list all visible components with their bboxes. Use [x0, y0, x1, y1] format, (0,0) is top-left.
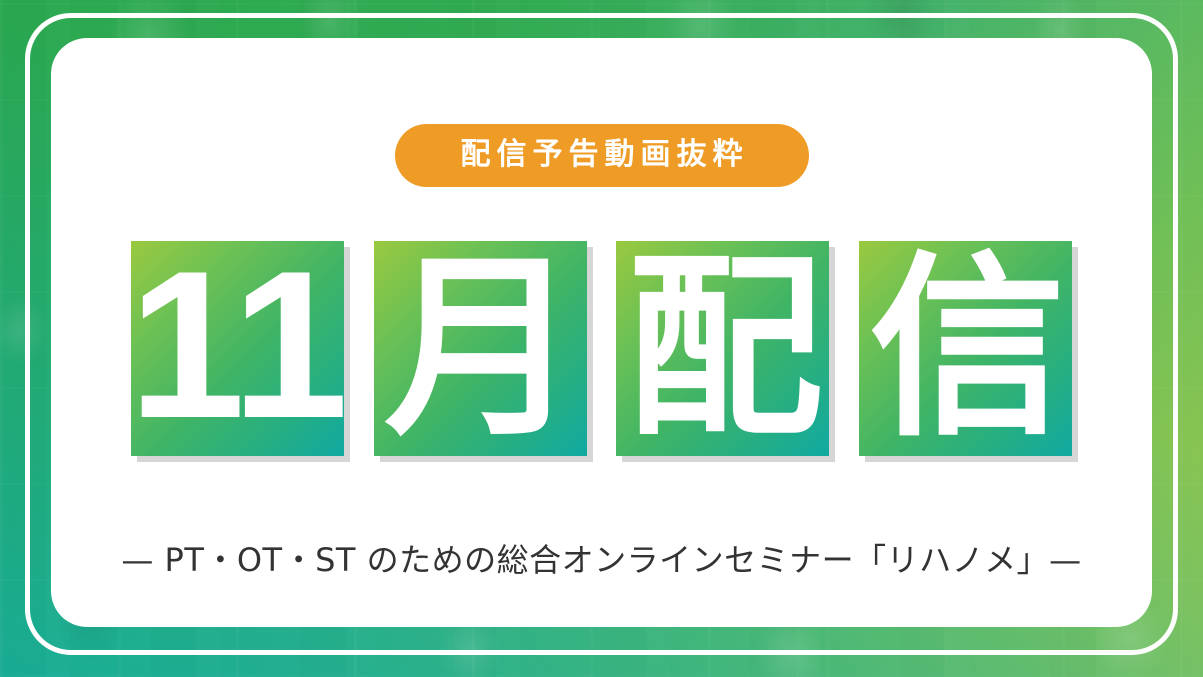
title-tiles-row: 11 月 配 信	[131, 241, 1072, 456]
tile-glyph-month-number: 11	[131, 241, 344, 450]
title-tile: 11	[131, 241, 344, 456]
section-badge: 配信予告動画抜粋	[395, 124, 809, 187]
tile-glyph-month-kanji: 月	[384, 251, 576, 447]
title-tile: 配	[616, 241, 829, 456]
slide-root: 配信予告動画抜粋 11 月 配 信 — PT・OT・ST のための総合オンライン…	[0, 0, 1203, 677]
tile-glyph-hai: 配	[627, 251, 819, 447]
title-tile: 月	[374, 241, 587, 456]
subtitle-caption: — PT・OT・ST のための総合オンラインセミナー「リハノメ」—	[51, 535, 1152, 581]
title-tile: 信	[859, 241, 1072, 456]
tile-glyph-shin: 信	[869, 251, 1061, 447]
content-card: 配信予告動画抜粋 11 月 配 信 — PT・OT・ST のための総合オンライン…	[51, 38, 1152, 627]
badge-row: 配信予告動画抜粋	[51, 124, 1152, 187]
